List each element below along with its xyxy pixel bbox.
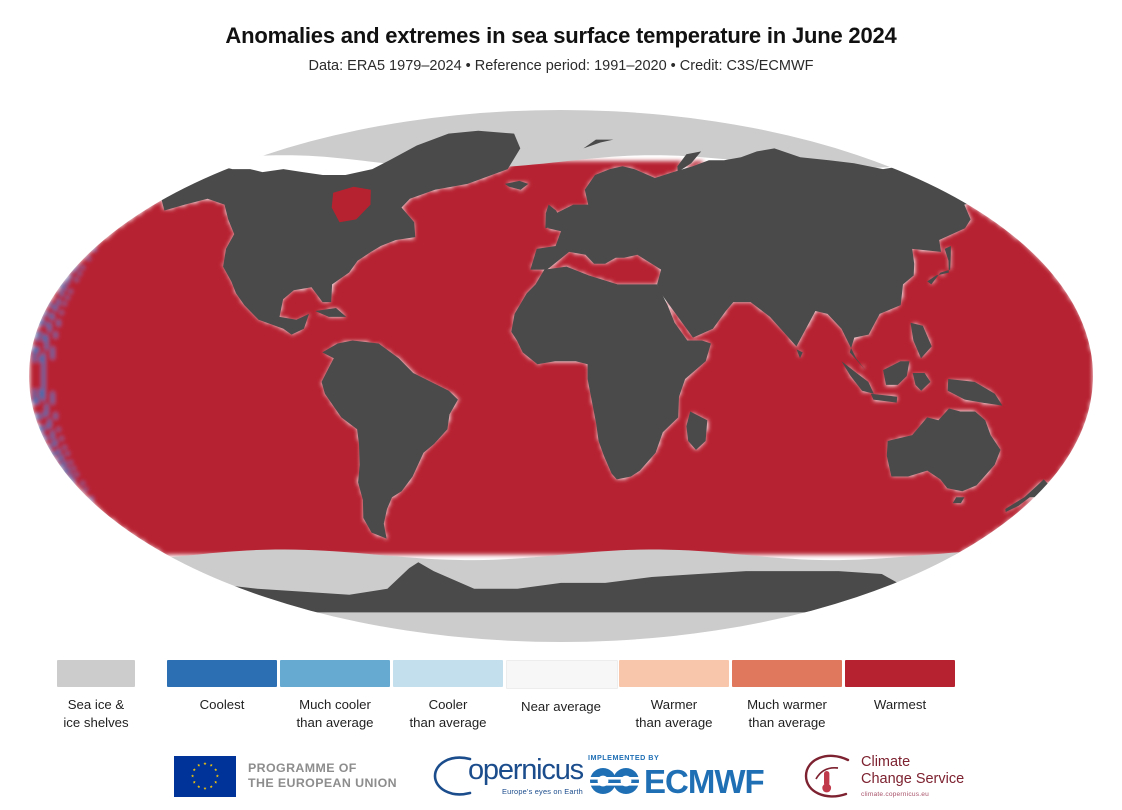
eu-star-icon [203,762,206,765]
sst-anomaly-map-svg [0,104,1122,654]
map-globe [0,104,1122,654]
legend-swatch [732,660,842,687]
sst-anomaly-infographic: Anomalies and extremes in sea surface te… [0,0,1122,810]
eu-star-icon [210,785,213,788]
legend-swatch [619,660,729,687]
eu-star-icon [214,781,217,784]
eu-star-icon [203,787,206,790]
copernicus-logo: opernicus Europe's eyes on Earth [432,745,583,807]
eu-programme-label: PROGRAMME OF THE EUROPEAN UNION [248,761,397,792]
footer-logos: PROGRAMME OF THE EUROPEAN UNION opernicu… [0,745,1122,810]
legend-swatch [506,660,618,689]
legend-item[interactable]: Much cooler than average [280,660,390,731]
legend-item[interactable]: Cooler than average [393,660,503,731]
eu-logo: PROGRAMME OF THE EUROPEAN UNION [174,745,397,807]
eu-flag-icon [174,756,236,797]
eu-star-icon [191,774,194,777]
world-map [0,104,1122,654]
ecmwf-logo: IMPLEMENTED BY ECMWF [588,745,764,807]
page-title: Anomalies and extremes in sea surface te… [0,24,1122,48]
ecmwf-implemented-by-label: IMPLEMENTED BY [588,754,764,761]
c3s-url: climate.copernicus.eu [861,791,964,798]
legend-label: Warmest [827,696,973,714]
ecmwf-globe-icon [588,766,644,796]
legend-swatch [57,660,135,687]
ecmwf-wordmark: ECMWF [644,765,764,798]
eu-star-icon [216,774,219,777]
eu-star-icon [197,764,200,767]
c3s-line1: Climate [861,754,964,771]
eu-star-icon [197,785,200,788]
legend-item[interactable]: Coolest [167,660,277,714]
legend-swatch [393,660,503,687]
c3s-thermometer-icon [800,751,854,801]
copernicus-tagline: Europe's eyes on Earth [468,787,583,796]
eu-star-icon [214,768,217,771]
legend: Sea ice & ice shelvesCoolestMuch cooler … [0,660,1122,740]
copernicus-wordmark: opernicus [468,756,583,785]
legend-item[interactable]: Near average [506,660,616,716]
legend-label: Sea ice & ice shelves [39,696,153,731]
legend-item[interactable]: Warmest [845,660,955,714]
legend-item[interactable]: Warmer than average [619,660,729,731]
header: Anomalies and extremes in sea surface te… [0,0,1122,75]
page-subtitle: Data: ERA5 1979–2024 • Reference period:… [0,59,1122,75]
legend-swatch [167,660,277,687]
legend-item[interactable]: Much warmer than average [732,660,842,731]
eu-star-icon [193,781,196,784]
c3s-line2: Change Service [861,771,964,788]
legend-swatch [845,660,955,687]
eu-star-icon [210,764,213,767]
legend-item[interactable]: Sea ice & ice shelves [57,660,135,731]
eu-star-icon [193,768,196,771]
c3s-logo: Climate Change Service climate.copernicu… [800,745,964,807]
legend-swatch [280,660,390,687]
